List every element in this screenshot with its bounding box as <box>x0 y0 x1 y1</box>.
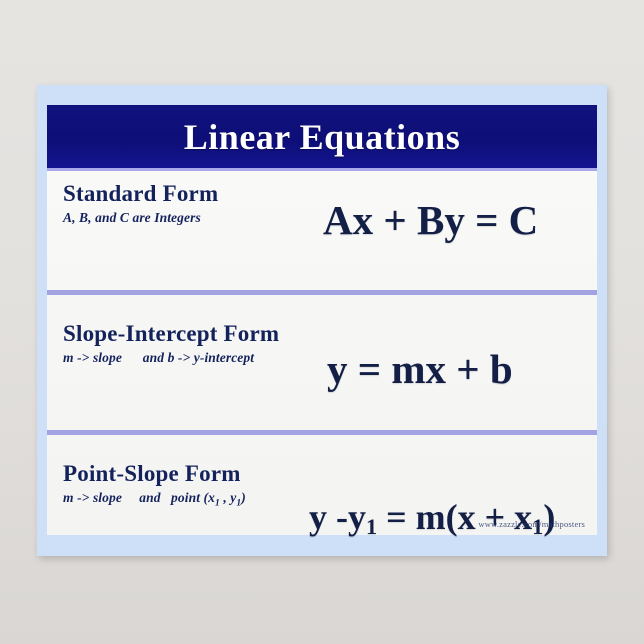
page-title: Linear Equations <box>184 119 460 155</box>
standard-form-labels: Standard Form A, B, and C are Integers <box>63 181 218 227</box>
point-slope-subtitle-post: ) <box>241 490 246 505</box>
point-slope-equation-mid: = m(x + x <box>377 497 532 537</box>
section-standard-form: Standard Form A, B, and C are Integers A… <box>47 171 597 277</box>
section-divider-2 <box>47 430 597 435</box>
section-point-slope-form: Point-Slope Form m -> slope and point (x… <box>47 451 597 545</box>
standard-form-subtitle: A, B, and C are Integers <box>63 209 218 227</box>
slope-intercept-heading: Slope-Intercept Form <box>63 321 279 347</box>
footer-credit: www.zazzle.com/mathposters <box>478 519 585 529</box>
point-slope-subtitle-mid: , y <box>220 490 237 505</box>
section-divider-1 <box>47 290 597 295</box>
standard-form-equation: Ax + By = C <box>323 200 538 241</box>
standard-form-heading: Standard Form <box>63 181 218 207</box>
point-slope-equation: y -y1 = m(x + x1) <box>309 499 555 535</box>
slope-intercept-labels: Slope-Intercept Form m -> slope and b ->… <box>63 321 279 367</box>
poster: Linear Equations Standard Form A, B, and… <box>37 85 607 556</box>
point-slope-equation-pre: y -y <box>309 497 366 537</box>
point-slope-labels: Point-Slope Form m -> slope and point (x… <box>63 461 246 513</box>
point-slope-subtitle: m -> slope and point (x1 , y1) <box>63 489 246 513</box>
section-slope-intercept-form: Slope-Intercept Form m -> slope and b ->… <box>47 311 597 417</box>
point-slope-equation-post: ) <box>543 497 555 537</box>
title-banner: Linear Equations <box>47 105 597 168</box>
point-slope-subtitle-pre: m -> slope and point (x <box>63 490 215 505</box>
slope-intercept-subtitle: m -> slope and b -> y-intercept <box>63 349 279 367</box>
point-slope-heading: Point-Slope Form <box>63 461 246 487</box>
poster-content-area: Linear Equations Standard Form A, B, and… <box>47 105 597 535</box>
slope-intercept-equation: y = mx + b <box>327 349 513 390</box>
point-slope-equation-subscript-y1: 1 <box>366 514 377 539</box>
